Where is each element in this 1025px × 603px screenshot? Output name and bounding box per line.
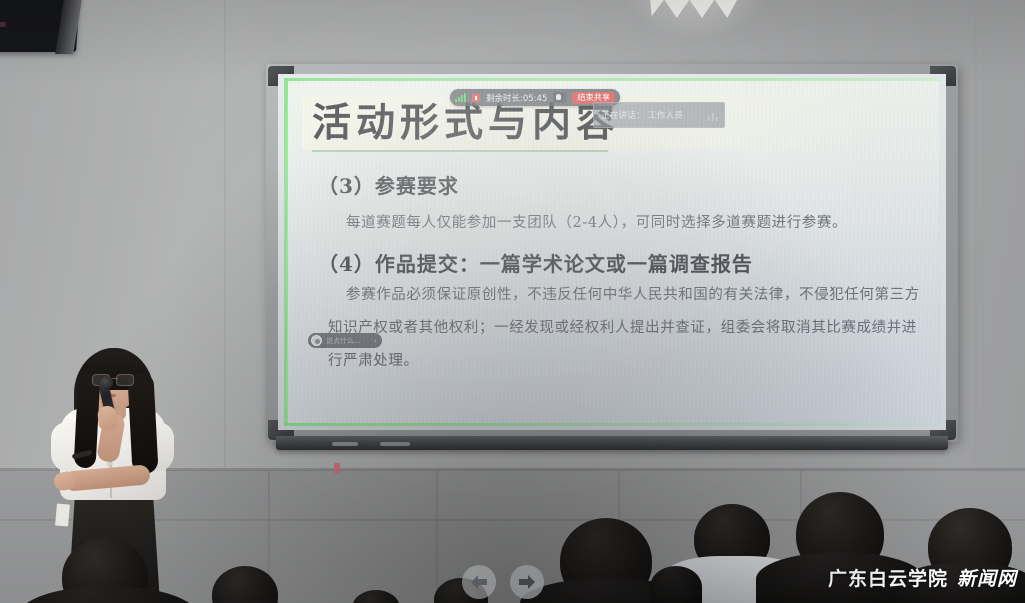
wall-sticker bbox=[334, 463, 340, 473]
active-speaker-banner: 正在讲话： 工作人员 bbox=[593, 102, 725, 128]
previous-slide-button[interactable] bbox=[462, 565, 496, 599]
user-avatar-icon bbox=[311, 335, 322, 346]
whiteboard: 活动形式与内容 （3）参赛要求 每道赛题每人仅能参加一支团队（2-4人），可同时… bbox=[266, 64, 958, 442]
marker-pen-icon bbox=[332, 442, 358, 446]
wall-seam bbox=[436, 470, 438, 603]
slide-paragraph-3: 每道赛题每人仅能参加一支团队（2-4人），可同时选择多道赛题进行参赛。 bbox=[346, 211, 847, 232]
presenter-hand-right bbox=[97, 405, 118, 431]
audio-wave-icon bbox=[708, 111, 718, 121]
watermark: 广东白云学院 新闻网 bbox=[828, 564, 1017, 591]
classroom-scene: 活动形式与内容 （3）参赛要求 每道赛题每人仅能参加一支团队（2-4人），可同时… bbox=[0, 0, 1025, 603]
slide-paragraph-4-line-3: 行严肃处理。 bbox=[328, 349, 419, 370]
arrow-left-icon bbox=[469, 574, 489, 590]
wall-seam bbox=[224, 0, 226, 470]
watermark-site: 新闻网 bbox=[957, 564, 1017, 591]
signal-strength-icon bbox=[455, 93, 466, 102]
remaining-time-label: 剩余时长:05:45 bbox=[486, 92, 547, 104]
active-speaker-label: 正在讲话： 工作人员 bbox=[594, 109, 683, 121]
slide-heading-4: （4）作品提交：一篇学术论文或一篇调查报告 bbox=[318, 248, 753, 277]
presenter-paper-notes bbox=[55, 503, 70, 526]
next-slide-button[interactable] bbox=[510, 565, 544, 599]
chevron-left-icon[interactable]: ‹ bbox=[374, 336, 379, 345]
presenter-hair-strand bbox=[127, 373, 158, 474]
slide-content: 活动形式与内容 （3）参赛要求 每道赛题每人仅能参加一支团队（2-4人），可同时… bbox=[284, 78, 940, 426]
presenter-shirt-button bbox=[108, 462, 112, 466]
slide-heading-3: （3）参赛要求 bbox=[318, 170, 459, 199]
arrow-right-icon bbox=[517, 574, 537, 590]
chat-input-pill[interactable]: 说点什么... ‹ bbox=[308, 333, 382, 348]
whiteboard-surface: 活动形式与内容 （3）参赛要求 每道赛题每人仅能参加一支团队（2-4人），可同时… bbox=[278, 74, 946, 430]
chat-input-placeholder[interactable]: 说点什么... bbox=[326, 336, 370, 346]
projected-slide-area: 活动形式与内容 （3）参赛要求 每道赛题每人仅能参加一支团队（2-4人），可同时… bbox=[284, 78, 940, 426]
slide-paragraph-4-line-2: 知识产权或者其他权利；一经发现或经权利人提出并查证，组委会将取消其比赛成绩并进 bbox=[328, 316, 917, 337]
recording-dot-icon bbox=[472, 94, 480, 102]
slide-title-underline bbox=[312, 150, 608, 152]
marker-pen-icon bbox=[380, 442, 410, 446]
wall-seam bbox=[975, 0, 977, 470]
microphone-icon[interactable] bbox=[553, 92, 566, 103]
power-led-icon bbox=[0, 22, 6, 27]
audience-shoulders bbox=[650, 566, 702, 603]
whiteboard-marker-tray bbox=[276, 436, 948, 450]
slide-navigation[interactable] bbox=[462, 565, 544, 599]
slide-paragraph-4-line-1: 参赛作品必须保证原创性，不违反任何中华人民共和国的有关法律，不侵犯任何第三方 bbox=[346, 283, 920, 304]
watermark-organization: 广东白云学院 bbox=[828, 564, 948, 591]
